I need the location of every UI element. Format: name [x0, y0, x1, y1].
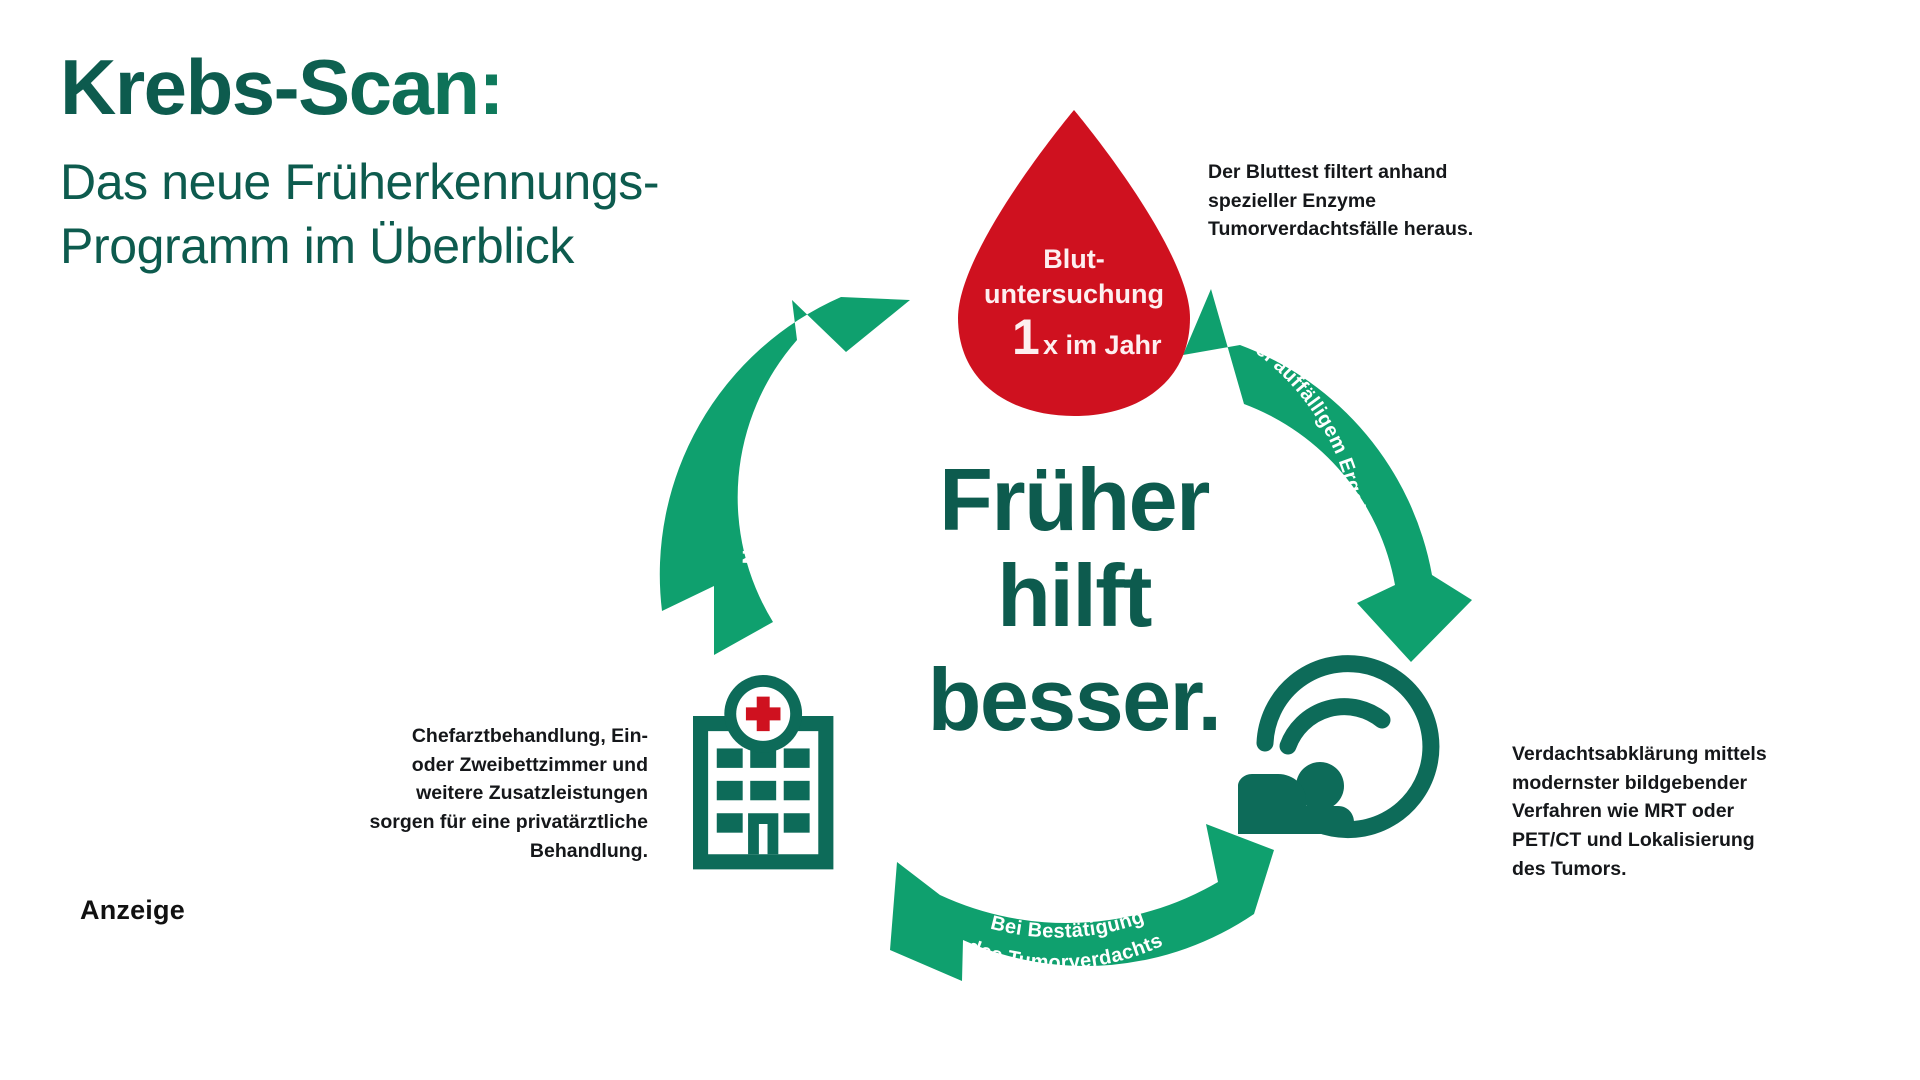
- note-imaging-line-5: des Tumors.: [1512, 855, 1822, 884]
- note-imaging-line-3: Verfahren wie MRT oder: [1512, 797, 1822, 826]
- blood-drop-line-1: Blut-: [1043, 244, 1104, 274]
- center-slogan-line-1: Früher: [939, 450, 1209, 549]
- blood-drop-frequency-unit: x im Jahr: [1043, 330, 1162, 360]
- note-imaging-line-4: PET/CT und Lokalisierung: [1512, 826, 1822, 855]
- note-imaging-line-1: Verdachtsabklärung mittels: [1512, 740, 1822, 769]
- page-subtitle: Das neue Früherkennungs- Programm im Übe…: [60, 150, 880, 278]
- mri-scanner-icon: [1238, 664, 1431, 834]
- center-slogan: Früher hilft besser.: [928, 450, 1221, 749]
- note-blood-test-line-3: Tumorverdachtsfälle heraus.: [1208, 215, 1518, 244]
- note-imaging-line-2: modernster bildgebender: [1512, 769, 1822, 798]
- note-blood-test-line-1: Der Bluttest filtert anhand: [1208, 158, 1518, 187]
- note-treatment-line-5: Behandlung.: [348, 837, 648, 866]
- ribbon-right-shape: [1183, 289, 1472, 662]
- note-treatment-line-4: sorgen für eine privatärztliche: [348, 808, 648, 837]
- center-slogan-line-2: hilft: [997, 546, 1152, 645]
- page-subtitle-line-1: Das neue Früherkennungs-: [60, 150, 880, 214]
- ribbon-right: Bei auffälligem Ergebnis: [1183, 289, 1472, 662]
- page-subtitle-line-2: Programm im Überblick: [60, 214, 880, 278]
- infographic-canvas: Krebs-Scan: Das neue Früherkennungs- Pro…: [0, 0, 1920, 1080]
- hospital-icon: [693, 675, 833, 869]
- note-blood-test: Der Bluttest filtert anhand spezieller E…: [1208, 158, 1518, 244]
- blood-drop-frequency-number: 1: [1012, 309, 1040, 365]
- page-title: Krebs-Scan:: [60, 48, 880, 128]
- note-blood-test-line-2: spezieller Enzyme: [1208, 187, 1518, 216]
- note-treatment-line-1: Chefarztbehandlung, Ein-: [348, 722, 648, 751]
- center-slogan-line-3: besser.: [928, 650, 1221, 749]
- note-treatment: Chefarztbehandlung, Ein- oder Zweibettzi…: [348, 722, 648, 865]
- ad-disclosure-label: Anzeige: [80, 895, 185, 926]
- ribbon-bottom: Bei Bestätigung des Tumorverdachts: [890, 824, 1274, 981]
- blood-drop: Blut- untersuchung 1 x im Jahr: [958, 110, 1190, 416]
- headline-block: Krebs-Scan: Das neue Früherkennungs- Pro…: [60, 48, 880, 278]
- note-imaging: Verdachtsabklärung mittels modernster bi…: [1512, 740, 1822, 883]
- blood-drop-line-2: untersuchung: [984, 279, 1164, 309]
- note-treatment-line-3: weitere Zusatzleistungen: [348, 779, 648, 808]
- note-treatment-line-2: oder Zweibettzimmer und: [348, 751, 648, 780]
